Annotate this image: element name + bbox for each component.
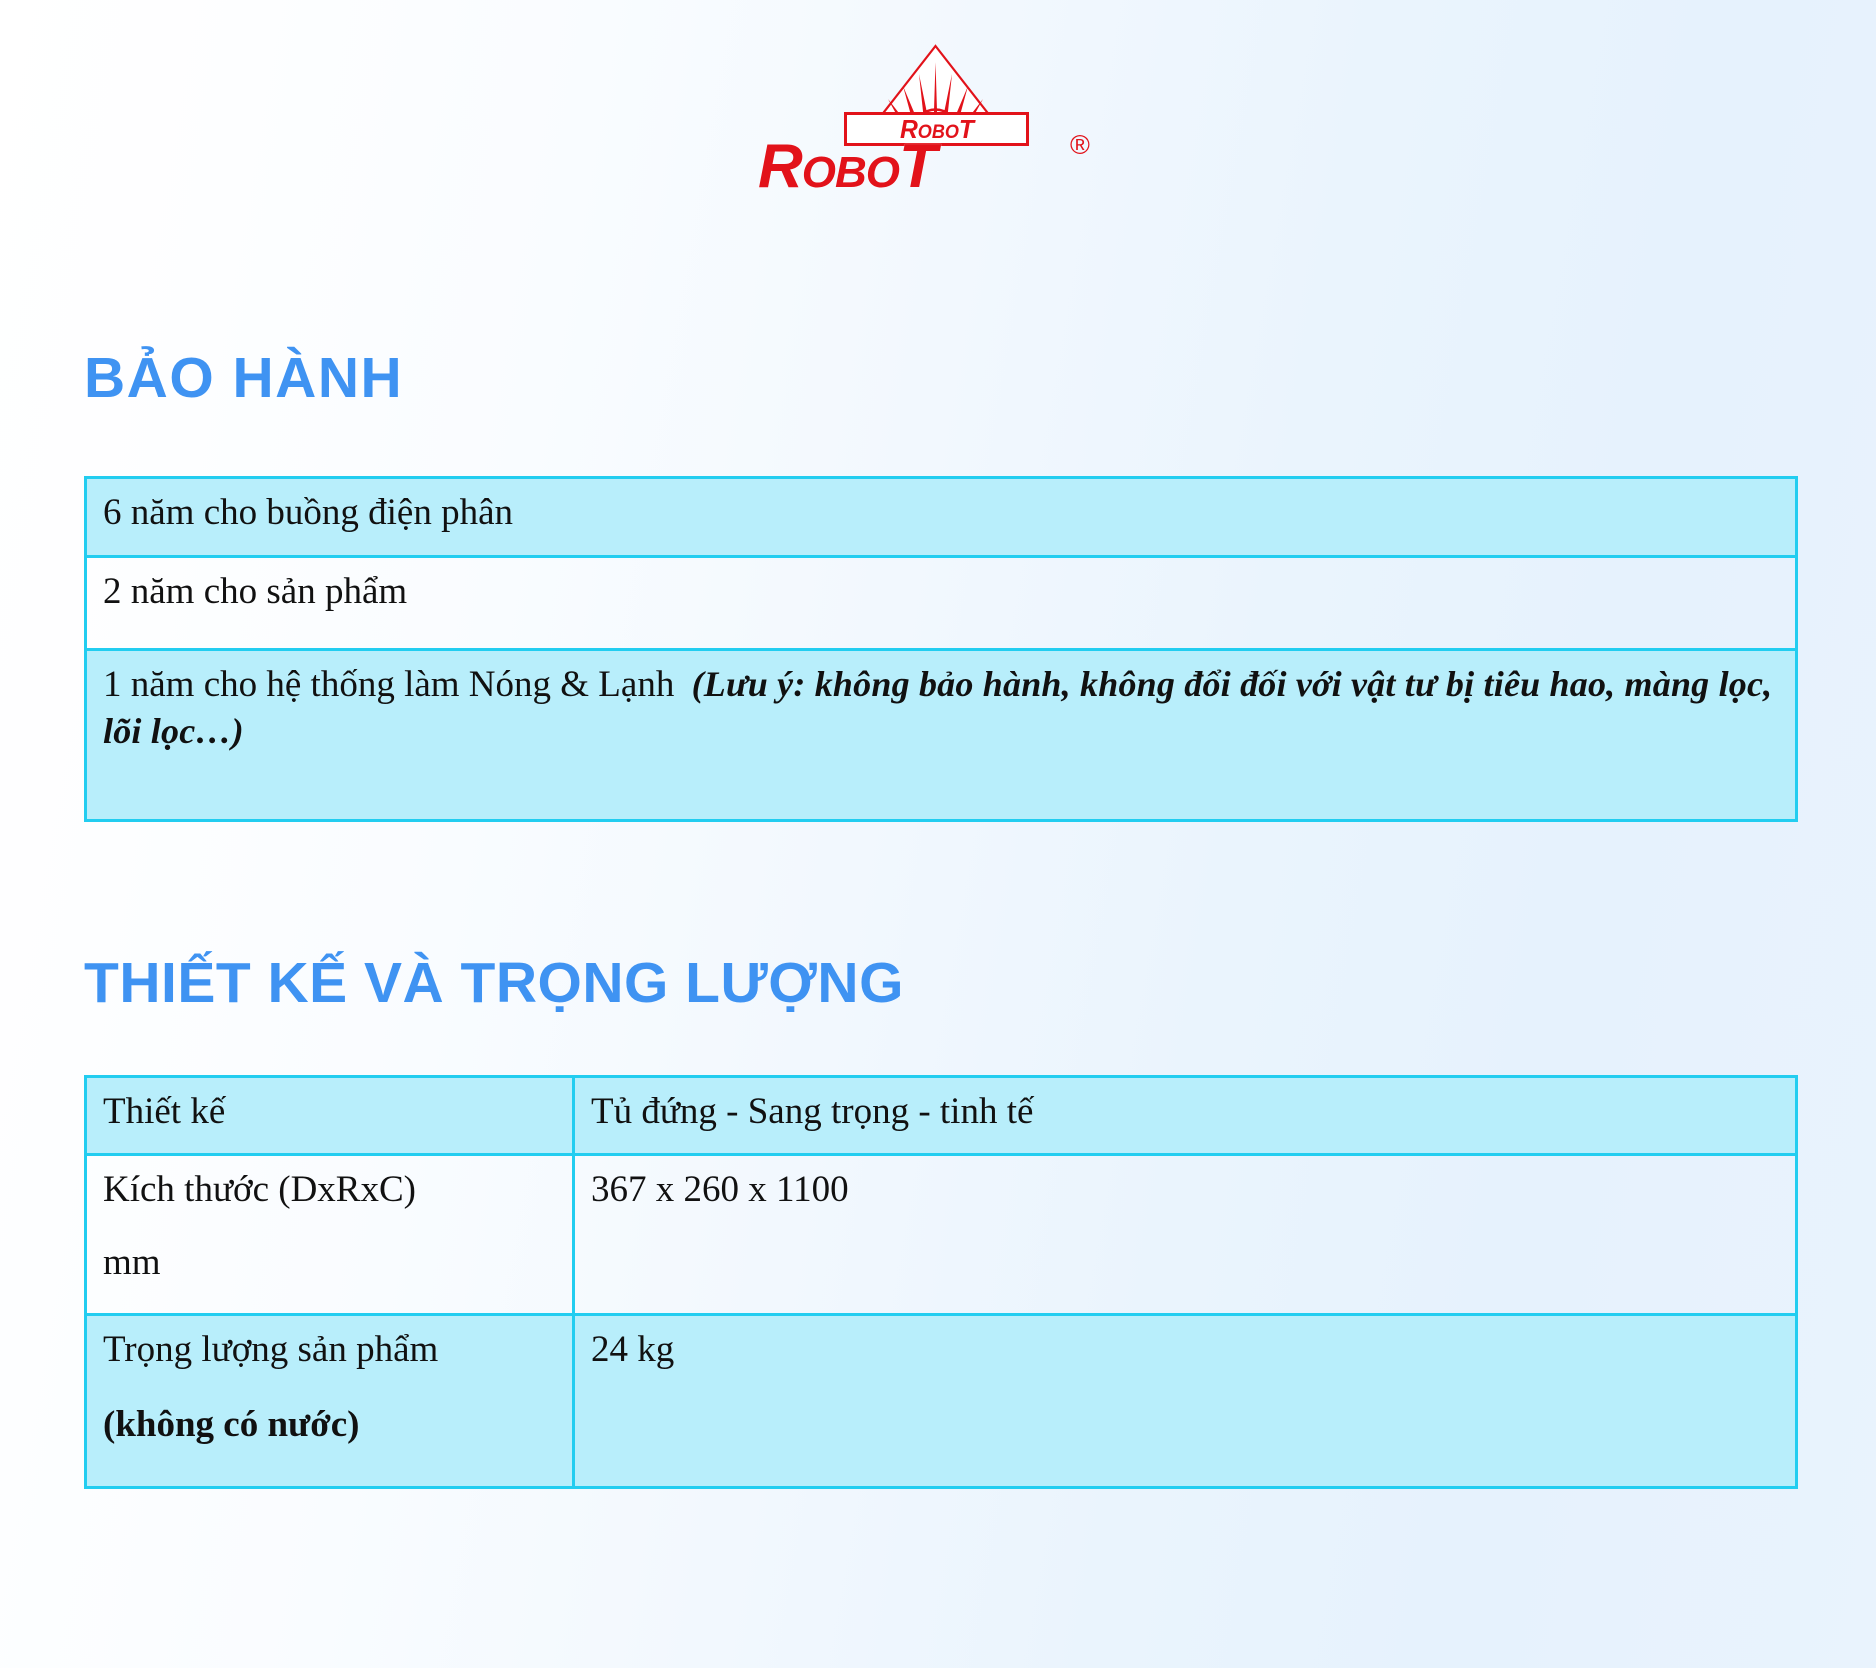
table-row: Thiết kế Tủ đứng - Sang trọng - tinh tế [87, 1078, 1795, 1156]
design-value-weight: 24 kg [575, 1316, 1795, 1486]
table-row: 6 năm cho buồng điện phân [87, 479, 1795, 558]
section-title-design-weight: THIẾT KẾ VÀ TRỌNG LƯỢNG [84, 955, 904, 1012]
design-dimensions-label-unit: mm [103, 1239, 558, 1286]
warranty-cell-product: 2 năm cho sản phẩm [87, 558, 1795, 648]
table-row: 1 năm cho hệ thống làm Nóng & Lạnh (Lưu … [87, 651, 1795, 819]
table-row: Kích thước (DxRxC) mm 367 x 260 x 1100 [87, 1156, 1795, 1316]
design-weight-label-line1: Trọng lượng sản phẩm [103, 1329, 438, 1370]
warranty-cell-electrolysis: 6 năm cho buồng điện phân [87, 479, 1795, 555]
design-value-design: Tủ đứng - Sang trọng - tinh tế [575, 1078, 1795, 1153]
design-weight-table: Thiết kế Tủ đứng - Sang trọng - tinh tế … [84, 1075, 1798, 1489]
brand-logo: ROBOT ROBOT ® [0, 44, 1876, 184]
design-label-weight: Trọng lượng sản phẩm (không có nước) [87, 1316, 575, 1486]
design-value-dimensions: 367 x 260 x 1100 [575, 1156, 1795, 1313]
design-label-dimensions: Kích thước (DxRxC) mm [87, 1156, 575, 1313]
warranty-hotcold-text: 1 năm cho hệ thống làm Nóng & Lạnh [103, 664, 674, 705]
design-label-design: Thiết kế [87, 1078, 575, 1153]
section-title-warranty: BẢO HÀNH [84, 350, 403, 407]
logo-wordmark: ROBOT [758, 136, 936, 198]
design-dimensions-label-line1: Kích thước (DxRxC) [103, 1169, 416, 1210]
design-weight-label-line2: (không có nước) [103, 1401, 558, 1448]
table-row: Trọng lượng sản phẩm (không có nước) 24 … [87, 1316, 1795, 1486]
warranty-cell-hotcold: 1 năm cho hệ thống làm Nóng & Lạnh (Lưu … [87, 651, 1795, 819]
warranty-table: 6 năm cho buồng điện phân 2 năm cho sản … [84, 476, 1798, 822]
registered-trademark-icon: ® [1070, 130, 1090, 161]
table-row: 2 năm cho sản phẩm [87, 558, 1795, 651]
